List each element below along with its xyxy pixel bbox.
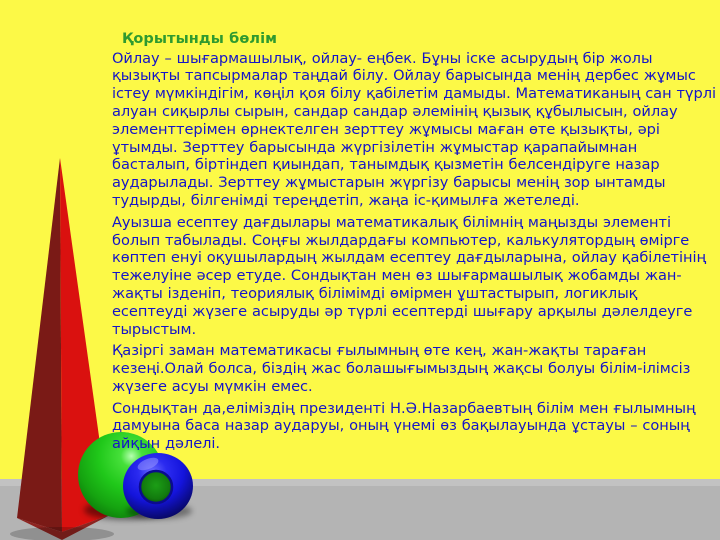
slide-text-content: Қорытынды бөлім Ойлау – шығармашылық, ой… bbox=[112, 30, 716, 453]
blue-torus-shape bbox=[122, 452, 194, 520]
body-paragraph-3: Қазіргі заман математикасы ғылымның өте … bbox=[112, 342, 716, 395]
pyramid-contact-shadow bbox=[10, 527, 114, 540]
body-paragraph-2: Ауызша есептеу дағдылары математикалық б… bbox=[112, 214, 716, 339]
presentation-slide: Қорытынды бөлім Ойлау – шығармашылық, ой… bbox=[0, 0, 720, 540]
body-paragraph-4: Сондықтан да,еліміздің президенті Н.Ә.На… bbox=[112, 400, 716, 453]
page-title: Қорытынды бөлім bbox=[122, 30, 716, 49]
pyramid-left-face bbox=[17, 158, 62, 532]
body-paragraph-1: Ойлау – шығармашылық, ойлау- еңбек. Бұны… bbox=[112, 50, 716, 210]
